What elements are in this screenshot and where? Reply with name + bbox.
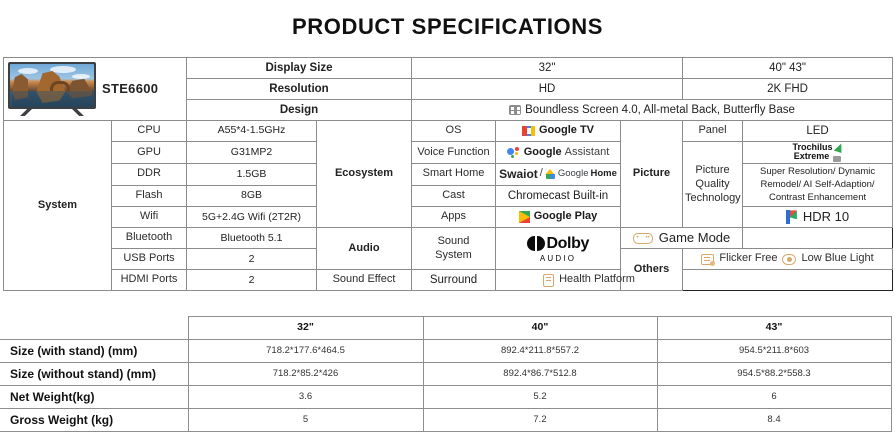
value-resolution-4043: 2K FHD bbox=[683, 79, 893, 100]
group-system: System bbox=[4, 121, 112, 291]
label-gpu: GPU bbox=[112, 142, 187, 164]
value-design: Boundless Screen 4.0, All-metal Back, Bu… bbox=[412, 100, 893, 121]
label-hdmi-ports: HDMI Ports bbox=[112, 270, 187, 291]
value-game-mode: +•• Game Mode bbox=[621, 228, 743, 249]
group-picture: Picture bbox=[621, 121, 683, 228]
value-wifi: 5G+2.4G Wifi (2T2R) bbox=[187, 207, 317, 228]
design-text: Boundless Screen 4.0, All-metal Back, Bu… bbox=[525, 103, 795, 117]
sound-system-line-2: System bbox=[435, 249, 472, 261]
value-voice-function: Google Assistant bbox=[496, 142, 621, 164]
size-value-without-stand-32: 718.2*85.2*426 bbox=[188, 363, 423, 386]
label-wifi: Wifi bbox=[112, 207, 187, 228]
flicker-free-text: Flicker Free bbox=[719, 252, 777, 266]
assistant-brand: Google bbox=[524, 146, 562, 160]
size-row-label-gross-weight: Gross Weight (kg) bbox=[0, 409, 188, 432]
value-panel: LED bbox=[743, 121, 893, 142]
pqt-line-2: Quality bbox=[695, 178, 729, 190]
table-row-display-size: STE6600 Display Size 32" 40" 43" bbox=[4, 58, 893, 79]
label-flash: Flash bbox=[112, 185, 187, 207]
google-tv-icon bbox=[522, 126, 535, 136]
assistant-word: Assistant bbox=[565, 146, 610, 160]
value-cast: Chromecast Built-in bbox=[496, 185, 621, 207]
google-play-text: Google Play bbox=[534, 210, 598, 224]
dolby-brand: Dolby bbox=[547, 234, 589, 254]
value-ddr: 1.5GB bbox=[187, 163, 317, 185]
trochilus-line-2: Extreme bbox=[794, 152, 830, 161]
hdr10-icon bbox=[786, 210, 797, 224]
value-os: Google TV bbox=[496, 121, 621, 142]
table-row-bluetooth: Bluetooth Bluetooth 5.1 Audio Sound Syst… bbox=[4, 228, 893, 249]
table-row-wifi: Wifi 5G+2.4G Wifi (2T2R) Apps Google Pla… bbox=[4, 207, 893, 228]
label-bluetooth: Bluetooth bbox=[112, 228, 187, 249]
value-bluetooth: Bluetooth 5.1 bbox=[187, 228, 317, 249]
gross-weight-43: 8.4 bbox=[657, 409, 891, 432]
group-ecosystem: Ecosystem bbox=[317, 121, 412, 228]
product-specifications-page: PRODUCT SPECIFICATIONS bbox=[0, 0, 895, 429]
value-super-resolution: Super Resolution/ Dynamic Remodel/ AI Se… bbox=[743, 163, 893, 206]
size-col-header-43: 43" bbox=[657, 317, 891, 340]
value-trochilus-extreme: Trochilus Extreme bbox=[743, 142, 893, 164]
label-cpu: CPU bbox=[112, 121, 187, 142]
table-row: Size (with stand) (mm) 718.2*177.6*464.5… bbox=[0, 340, 891, 363]
table-row-gpu: GPU G31MP2 Voice Function Google Assista… bbox=[4, 142, 893, 164]
value-apps: Google Play bbox=[496, 207, 621, 228]
table-row-hdmi-ports: HDMI Ports 2 Sound Effect Surround Healt… bbox=[4, 270, 893, 291]
model-cell: STE6600 bbox=[4, 58, 187, 121]
value-usb-ports: 2 bbox=[187, 249, 317, 270]
label-cast: Cast bbox=[412, 185, 496, 207]
label-resolution: Resolution bbox=[187, 79, 412, 100]
size-value-with-stand-43: 954.5*211.8*603 bbox=[657, 340, 891, 363]
size-col-header-32: 32" bbox=[188, 317, 423, 340]
value-sound-effect: Surround bbox=[412, 270, 496, 291]
value-cpu: A55*4-1.5GHz bbox=[187, 121, 317, 142]
tv-thumbnail-icon bbox=[8, 62, 96, 116]
net-weight-32: 3.6 bbox=[188, 386, 423, 409]
home-word: Home bbox=[590, 168, 616, 180]
group-audio: Audio bbox=[317, 228, 412, 270]
dolby-double-d-icon bbox=[527, 236, 545, 251]
value-resolution-32: HD bbox=[412, 79, 683, 100]
pqt-line-1: Picture bbox=[695, 164, 729, 176]
size-value-without-stand-43: 954.5*88.2*558.3 bbox=[657, 363, 891, 386]
value-display-size-32: 32" bbox=[412, 58, 683, 79]
hdr10-text: HDR 10 bbox=[803, 209, 849, 225]
label-smart-home: Smart Home bbox=[412, 163, 496, 185]
value-flash: 8GB bbox=[187, 185, 317, 207]
trochilus-badge-icon bbox=[833, 156, 841, 162]
size-value-with-stand-32: 718.2*177.6*464.5 bbox=[188, 340, 423, 363]
label-sound-system: Sound System bbox=[412, 228, 496, 270]
table-row: Gross Weight (kg) 5 7.2 8.4 bbox=[0, 409, 891, 432]
size-row-label-net-weight: Net Weight(kg) bbox=[0, 386, 188, 409]
size-value-with-stand-40: 892.4*211.8*557.2 bbox=[423, 340, 657, 363]
label-voice-function: Voice Function bbox=[412, 142, 496, 164]
label-os: OS bbox=[412, 121, 496, 142]
main-spec-table: STE6600 Display Size 32" 40" 43" Resolut… bbox=[3, 57, 893, 291]
label-design: Design bbox=[187, 100, 412, 121]
net-weight-43: 6 bbox=[657, 386, 891, 409]
label-panel: Panel bbox=[683, 121, 743, 142]
size-row-label-without-stand: Size (without stand) (mm) bbox=[0, 363, 188, 386]
value-gpu: G31MP2 bbox=[187, 142, 317, 164]
swaiot-brand: Swaiot bbox=[499, 167, 538, 182]
value-hdmi-ports: 2 bbox=[187, 270, 317, 291]
flicker-free-icon bbox=[701, 254, 714, 265]
dolby-sub: AUDIO bbox=[540, 254, 576, 264]
google-tv-text: Google TV bbox=[539, 124, 594, 138]
net-weight-40: 5.2 bbox=[423, 386, 657, 409]
google-assistant-icon bbox=[507, 147, 521, 158]
sound-system-line-1: Sound bbox=[438, 235, 470, 247]
model-name: STE6600 bbox=[102, 81, 158, 97]
value-smart-home: Swaiot / Google Home bbox=[496, 163, 621, 185]
value-dolby-audio: Dolby AUDIO bbox=[496, 228, 621, 270]
label-picture-quality-technology: Picture Quality Technology bbox=[683, 142, 743, 228]
label-apps: Apps bbox=[412, 207, 496, 228]
label-usb-ports: USB Ports bbox=[112, 249, 187, 270]
value-display-size-4043: 40" 43" bbox=[683, 58, 893, 79]
label-ddr: DDR bbox=[112, 163, 187, 185]
others-line-1: Flicker Free Low Blue Light bbox=[683, 249, 893, 270]
game-mode-text: Game Mode bbox=[659, 230, 731, 246]
table-row: Net Weight(kg) 3.6 5.2 6 bbox=[0, 386, 891, 409]
google-home-icon bbox=[545, 169, 556, 179]
value-hdr10: HDR 10 bbox=[743, 207, 893, 228]
label-sound-effect: Sound Effect bbox=[317, 270, 412, 291]
google-word: Google bbox=[558, 168, 589, 180]
health-platform-text: Health Platform bbox=[559, 273, 635, 287]
size-table-corner-cell bbox=[0, 317, 188, 340]
size-value-without-stand-40: 892.4*86.7*512.8 bbox=[423, 363, 657, 386]
table-row-cpu: System CPU A55*4-1.5GHz Ecosystem OS Goo… bbox=[4, 121, 893, 142]
size-weight-table: 32" 40" 43" Size (with stand) (mm) 718.2… bbox=[0, 316, 892, 432]
health-platform-icon bbox=[543, 274, 554, 287]
size-col-header-40: 40" bbox=[423, 317, 657, 340]
low-blue-light-eye-icon bbox=[782, 254, 796, 265]
gross-weight-40: 7.2 bbox=[423, 409, 657, 432]
label-display-size: Display Size bbox=[187, 58, 412, 79]
size-row-label-with-stand: Size (with stand) (mm) bbox=[0, 340, 188, 363]
size-table-header-row: 32" 40" 43" bbox=[0, 317, 891, 340]
gross-weight-32: 5 bbox=[188, 409, 423, 432]
table-row-ddr: DDR 1.5GB Smart Home Swaiot / Google Hom… bbox=[4, 163, 893, 185]
low-blue-light-text: Low Blue Light bbox=[801, 252, 873, 266]
gamepad-icon: +•• bbox=[633, 233, 653, 244]
brand-separator: / bbox=[540, 167, 543, 181]
boundless-screen-icon bbox=[509, 105, 521, 115]
page-title: PRODUCT SPECIFICATIONS bbox=[0, 0, 895, 40]
pqt-line-3: Technology bbox=[685, 192, 741, 204]
table-row: Size (without stand) (mm) 718.2*85.2*426… bbox=[0, 363, 891, 386]
google-play-icon bbox=[519, 211, 530, 223]
